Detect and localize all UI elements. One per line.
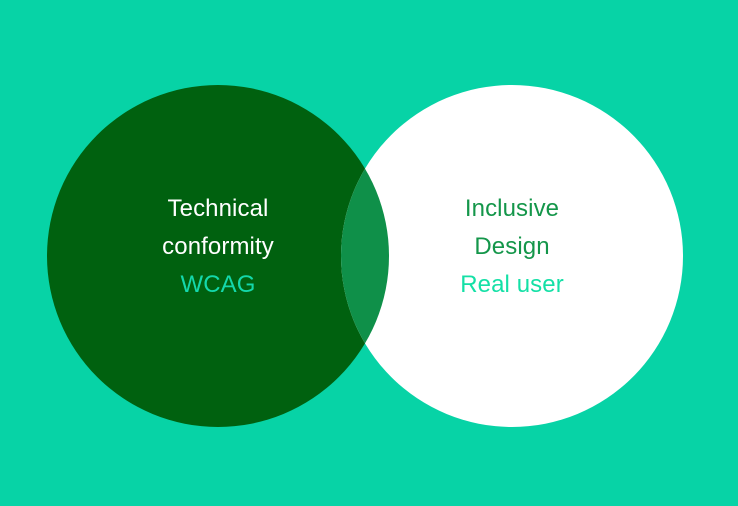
right-label-line-2: Design bbox=[341, 228, 683, 266]
right-circle-labels: Inclusive Design Real user bbox=[341, 190, 683, 304]
left-label-line-2: conformity bbox=[47, 228, 389, 266]
left-label-accent: WCAG bbox=[47, 266, 389, 304]
right-label-line-1: Inclusive bbox=[341, 190, 683, 228]
venn-diagram-canvas: Technical conformity WCAG Inclusive Desi… bbox=[0, 0, 738, 506]
right-label-accent: Real user bbox=[341, 266, 683, 304]
left-circle-labels: Technical conformity WCAG bbox=[47, 190, 389, 304]
left-label-line-1: Technical bbox=[47, 190, 389, 228]
